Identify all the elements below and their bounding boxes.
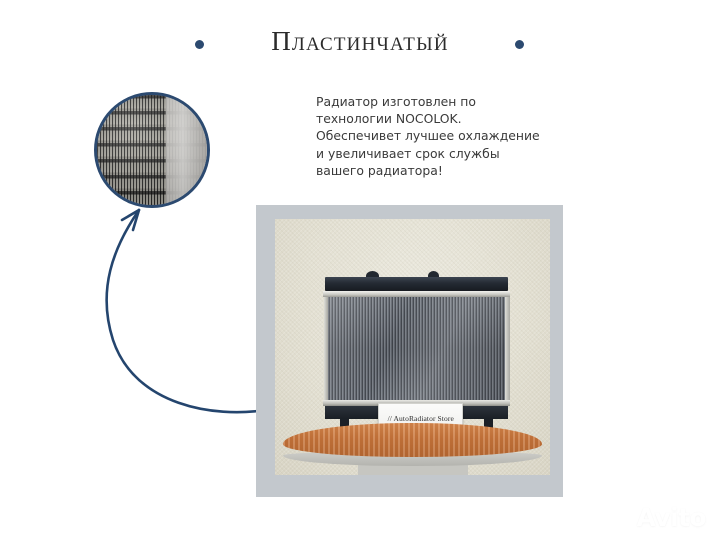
radiator-product-photo: // AutoRadiator Store Радиаторы Волга ав… [256,205,563,497]
photo-image-area: // AutoRadiator Store Радиаторы Волга ав… [275,219,550,475]
placard-title: // AutoRadiator Store [388,414,454,423]
avito-watermark: Avito [608,504,706,530]
description-text: Радиатор изготовлен по технологии NOCOLO… [316,93,548,179]
bullet-dot-right-icon [515,40,524,49]
curved-arrow-icon [95,190,280,415]
radiator-side-right [505,297,509,406]
bullet-dot-left-icon [195,40,204,49]
page-title: Пластинчатый [225,26,495,57]
avito-logo-icon [608,504,634,530]
radiator-unit [323,277,510,420]
slide-canvas: Пластинчатый Радиатор изготовлен по техн… [0,0,720,540]
fin-shading-overlay [97,95,207,205]
radiator-side-left [324,297,328,406]
avito-wordmark: Avito [637,505,706,530]
core-sheen [326,297,507,400]
radiator-top-tank [325,277,508,291]
radiator-core-fins [326,297,507,400]
